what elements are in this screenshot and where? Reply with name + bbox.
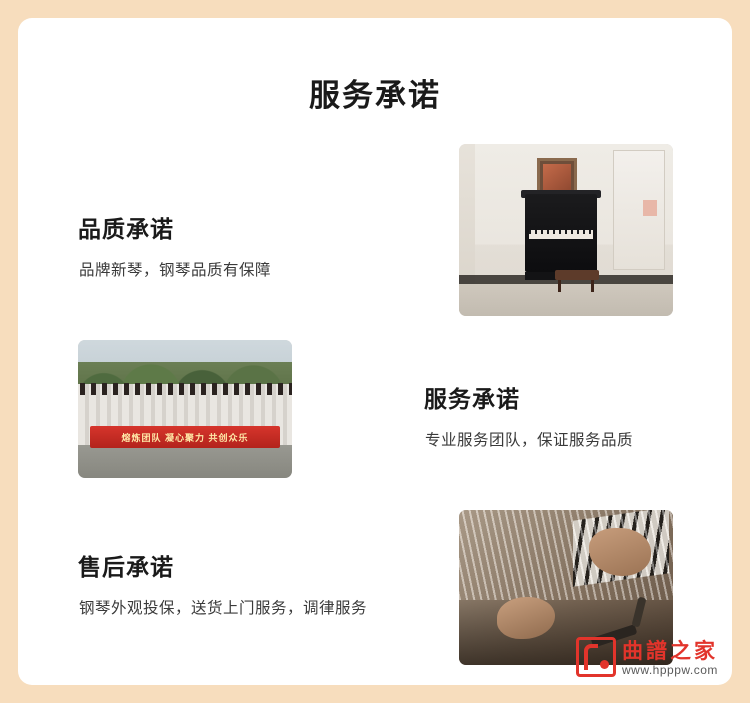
wall-note — [643, 200, 657, 216]
showroom-door — [613, 150, 665, 270]
team-heads — [78, 383, 292, 395]
content-card: 服务承诺 品质承诺 品牌新琴，钢琴品质有保障 熔炼团队 凝心聚力 共创众乐 — [18, 18, 732, 685]
piano-bench — [555, 270, 599, 280]
section-title-aftersales: 售后承诺 — [78, 548, 174, 582]
page-title: 服务承诺 — [18, 70, 732, 115]
team-banner-text: 熔炼团队 凝心聚力 共创众乐 — [90, 426, 280, 448]
brand-name: 曲譜之家 — [622, 641, 718, 663]
piano-keys — [529, 230, 593, 239]
section-title-service: 服务承诺 — [424, 380, 520, 414]
promo-page: 服务承诺 品质承诺 品牌新琴，钢琴品质有保障 熔炼团队 凝心聚力 共创众乐 — [0, 0, 750, 703]
section-title-quality: 品质承诺 — [78, 210, 174, 244]
brand-texts: 曲譜之家 www.hpppw.com — [622, 641, 718, 677]
piano-in-showroom-photo — [459, 144, 673, 316]
brand-url: www.hpppw.com — [622, 663, 718, 677]
brand-logo-icon — [576, 637, 616, 677]
service-team-group-photo: 熔炼团队 凝心聚力 共创众乐 — [78, 340, 292, 478]
section-desc-aftersales: 钢琴外观投保，送货上门服务，调律服务 — [79, 596, 367, 618]
showroom-floor — [459, 284, 673, 316]
site-watermark: 曲譜之家 www.hpppw.com — [576, 637, 718, 677]
section-desc-quality: 品牌新琴，钢琴品质有保障 — [79, 258, 271, 280]
section-desc-service: 专业服务团队，保证服务品质 — [425, 428, 633, 450]
